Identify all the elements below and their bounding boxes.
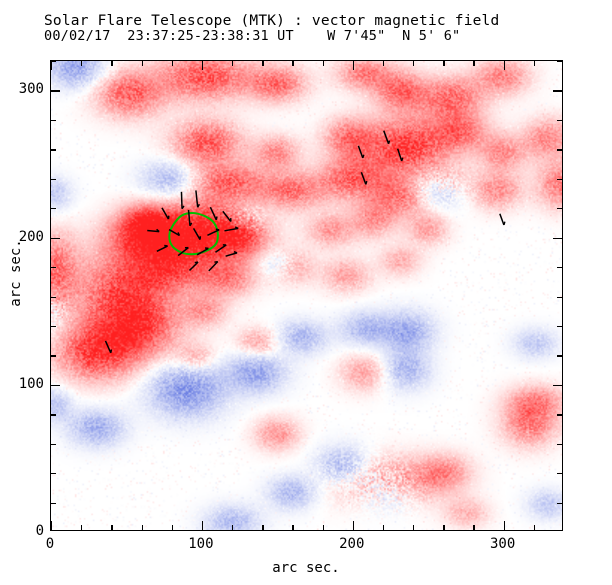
axis-tick	[51, 385, 60, 386]
axis-tick	[292, 525, 293, 530]
field-vector	[398, 149, 403, 161]
axis-tick	[323, 61, 324, 66]
axis-tick	[202, 61, 203, 70]
axis-tick	[232, 525, 233, 530]
axis-tick	[553, 90, 562, 91]
axis-tick	[51, 297, 56, 298]
chart-title-block: Solar Flare Telescope (MTK) : vector mag…	[44, 14, 584, 44]
axis-tick	[557, 355, 562, 356]
y-tick-label: 300	[0, 81, 44, 97]
field-vector	[178, 248, 188, 256]
axis-tick	[172, 525, 173, 530]
axis-tick	[504, 521, 505, 530]
field-vector	[384, 131, 390, 144]
axis-tick	[557, 120, 562, 121]
axis-tick	[557, 444, 562, 445]
field-vector	[194, 228, 201, 239]
x-axis-title: arc sec.	[0, 560, 612, 576]
axis-tick	[51, 90, 60, 91]
field-vector	[197, 248, 208, 255]
field-vector	[215, 245, 226, 252]
field-vector	[196, 190, 199, 207]
axis-tick	[557, 149, 562, 150]
axis-tick	[557, 326, 562, 327]
axis-tick	[353, 61, 354, 70]
axis-tick	[557, 503, 562, 504]
axis-tick	[51, 444, 56, 445]
axis-tick	[51, 179, 56, 180]
axis-tick	[557, 473, 562, 474]
axis-tick	[473, 525, 474, 530]
axis-tick	[413, 61, 414, 66]
field-vector	[162, 208, 169, 219]
field-vector	[358, 146, 363, 158]
axis-tick	[81, 525, 82, 530]
field-vector	[169, 230, 179, 236]
axis-tick	[292, 61, 293, 66]
field-vector	[361, 172, 366, 184]
axis-tick	[51, 326, 56, 327]
y-tick-label: 100	[0, 376, 44, 392]
axis-tick	[51, 61, 56, 62]
axis-tick	[111, 61, 112, 66]
field-vector	[181, 192, 183, 209]
field-vector	[105, 341, 111, 353]
axis-tick	[323, 525, 324, 530]
axis-tick	[353, 521, 354, 530]
axis-tick	[51, 61, 52, 70]
axis-tick	[534, 525, 535, 530]
axis-tick	[534, 61, 535, 66]
x-tick-label: 0	[20, 536, 80, 552]
field-vector	[226, 252, 237, 256]
field-vector	[210, 207, 217, 220]
axis-tick	[504, 61, 505, 70]
axis-tick	[51, 521, 52, 530]
x-tick-label: 100	[171, 536, 231, 552]
axis-tick	[262, 61, 263, 66]
x-tick-label: 300	[473, 536, 533, 552]
axis-tick	[553, 238, 562, 239]
axis-tick	[557, 179, 562, 180]
axis-tick	[413, 525, 414, 530]
field-vector	[500, 214, 505, 225]
axis-tick	[51, 120, 56, 121]
axis-tick	[51, 473, 56, 474]
axis-tick	[557, 414, 562, 415]
axis-tick	[172, 61, 173, 66]
axis-tick	[81, 61, 82, 66]
y-axis-title: arc sec.	[8, 233, 24, 313]
field-vector	[224, 227, 238, 231]
axis-tick	[443, 525, 444, 530]
axis-tick	[557, 61, 562, 62]
axis-tick	[51, 355, 56, 356]
field-vector	[189, 210, 192, 226]
axis-tick	[51, 149, 56, 150]
chart-subtitle: 00/02/17 23:37:25-23:38:31 UT W 7'45" N …	[44, 29, 584, 44]
axis-tick	[232, 61, 233, 66]
field-vector	[157, 245, 168, 251]
axis-tick	[443, 61, 444, 66]
axis-tick	[557, 267, 562, 268]
axis-tick	[142, 525, 143, 530]
axis-tick	[473, 61, 474, 66]
field-vector	[223, 211, 231, 221]
axis-tick	[553, 385, 562, 386]
axis-tick	[142, 61, 143, 66]
field-vector	[147, 229, 159, 231]
axis-tick	[557, 208, 562, 209]
axis-tick	[51, 503, 56, 504]
axis-tick	[557, 297, 562, 298]
axis-tick	[202, 521, 203, 530]
field-vector	[207, 229, 219, 235]
axis-tick	[262, 525, 263, 530]
axis-tick	[383, 525, 384, 530]
field-vector	[189, 262, 198, 270]
axis-tick	[51, 238, 60, 239]
axis-tick	[51, 208, 56, 209]
field-vector	[209, 262, 218, 271]
axis-tick	[51, 414, 56, 415]
magnetogram-plot-area	[50, 60, 563, 531]
x-tick-label: 200	[322, 536, 382, 552]
vector-field-overlay	[51, 61, 562, 530]
axis-tick	[51, 267, 56, 268]
axis-tick	[383, 61, 384, 66]
axis-tick	[111, 525, 112, 530]
chart-title: Solar Flare Telescope (MTK) : vector mag…	[44, 14, 584, 29]
